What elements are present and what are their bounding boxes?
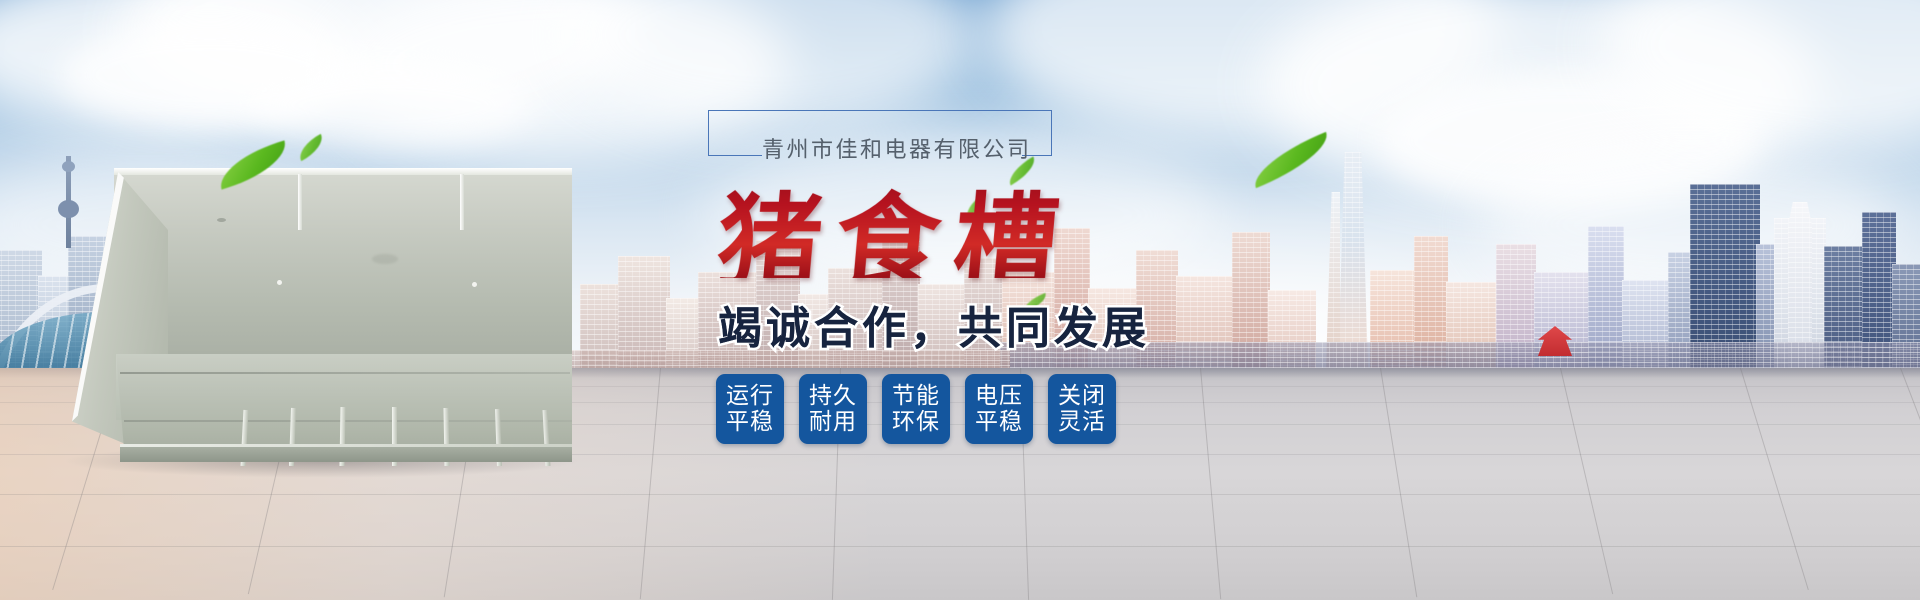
badge-line-1: 运行	[726, 383, 774, 409]
badge-line-2: 平稳	[726, 409, 774, 435]
badge-line-2: 平稳	[975, 409, 1023, 435]
product-image-feeder-trough	[72, 158, 572, 470]
badge-line-2: 灵活	[1058, 409, 1106, 435]
badge-line-1: 关闭	[1058, 383, 1106, 409]
trough-back-wall	[114, 172, 572, 368]
promo-banner: 青州市佳和电器有限公司 猪食槽 竭诚合作，共同发展 竭诚合作，共同发展 运行 平…	[0, 0, 1920, 600]
trough-back-divider	[460, 174, 464, 230]
feature-badge-2[interactable]: 持久 耐用	[799, 374, 867, 444]
feature-badge-3[interactable]: 节能 环保	[882, 374, 950, 444]
badge-line-1: 持久	[809, 383, 857, 409]
banner-text-block: 青州市佳和电器有限公司 猪食槽 竭诚合作，共同发展 竭诚合作，共同发展 运行 平…	[700, 96, 1320, 556]
badge-line-2: 环保	[892, 409, 940, 435]
feature-badge-5[interactable]: 关闭 灵活	[1048, 374, 1116, 444]
feature-badge-1[interactable]: 运行 平稳	[716, 374, 784, 444]
page-title: 猪食槽	[715, 158, 1325, 278]
subtitle: 竭诚合作，共同发展	[718, 292, 1318, 356]
trough-back-divider	[298, 174, 302, 230]
feature-badge-list: 运行 平稳 持久 耐用 节能 环保 电压 平稳 关闭 灵活	[716, 374, 1116, 444]
badge-line-1: 电压	[975, 383, 1023, 409]
company-name-frame-foot	[708, 155, 762, 156]
feature-badge-4[interactable]: 电压 平稳	[965, 374, 1033, 444]
badge-line-1: 节能	[892, 383, 940, 409]
badge-line-2: 耐用	[809, 409, 857, 435]
